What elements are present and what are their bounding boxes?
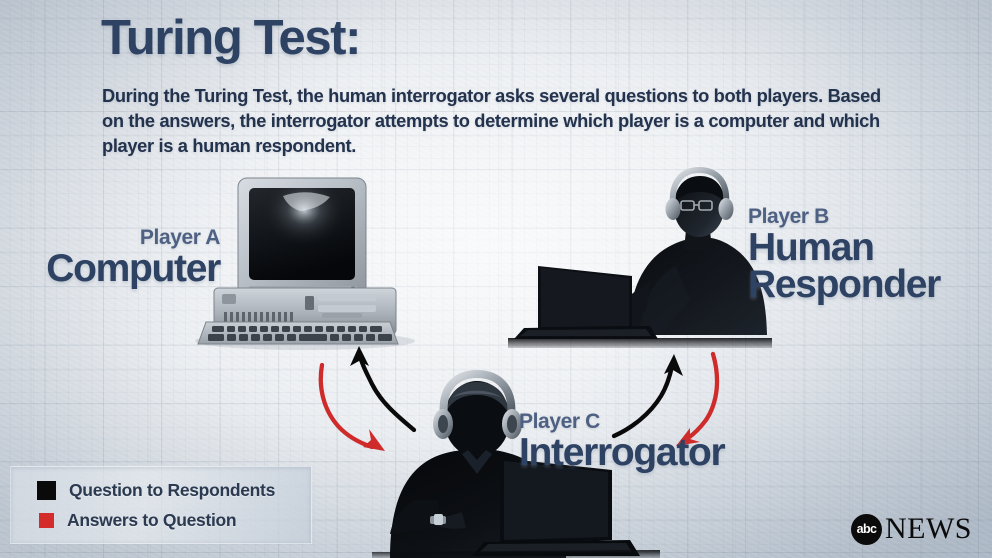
player-a-name: Computer [46,250,220,287]
player-a-label-group: Player A Computer [46,226,220,287]
page-title: Turing Test: [101,14,360,63]
player-c-label-group: Player C Interrogator [519,410,724,471]
description-text: During the Turing Test, the human interr… [102,83,888,159]
graphic-canvas: Turing Test: During the Turing Test, the… [0,0,992,558]
player-b-name-line1: Human [748,229,940,266]
player-b-label-group: Player B Human Responder [748,205,940,304]
player-c-name: Interrogator [519,434,724,471]
player-b-name-line2: Responder [748,266,940,303]
